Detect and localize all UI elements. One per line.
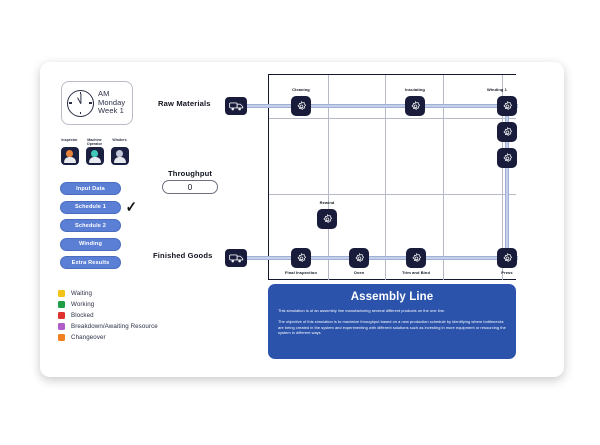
legend-label: Breakdown/Awaiting Resource: [71, 323, 158, 330]
control-button-stack: Input Data Schedule 1 ✓ Schedule 2 Windi…: [60, 182, 138, 269]
station-node-cleaning[interactable]: [291, 96, 311, 116]
station-node-press[interactable]: [497, 248, 517, 268]
station-node-rewind[interactable]: [317, 209, 337, 229]
simulation-clock: AM Monday Week 1: [61, 81, 133, 125]
clock-readout: AM Monday Week 1: [98, 90, 125, 116]
legend-item-waiting: Waiting: [58, 290, 158, 297]
finished-goods-label: Finished Goods: [153, 251, 212, 260]
conveyor-bottom: [246, 256, 518, 260]
worker-icon: [86, 147, 104, 165]
conveyor-top: [246, 104, 518, 108]
clock-week: Week 1: [98, 107, 125, 116]
grid-divider: [269, 118, 516, 119]
legend-item-breakdown: Breakdown/Awaiting Resource: [58, 323, 158, 330]
grid-divider: [269, 194, 516, 195]
legend-swatch: [58, 290, 65, 297]
station-node-oven[interactable]: [349, 248, 369, 268]
schedule-1-button[interactable]: Schedule 1: [60, 201, 121, 214]
legend-swatch: [58, 323, 65, 330]
worker-machine-operator: Machine Operator: [85, 138, 104, 165]
legend-swatch: [58, 312, 65, 319]
legend-label: Working: [71, 301, 94, 308]
worker-label: Machine Operator: [85, 138, 104, 147]
input-data-button[interactable]: Input Data: [60, 182, 121, 195]
info-panel-paragraph-2: The objective of this simulation is to m…: [278, 319, 506, 335]
worker-icon: [61, 147, 79, 165]
station-node-winding-1a[interactable]: [497, 96, 517, 116]
finished-goods-truck-icon: [225, 249, 247, 267]
throughput-value: 0: [162, 180, 218, 194]
legend-item-blocked: Blocked: [58, 312, 158, 319]
worker-label: Winders: [112, 138, 126, 147]
station-label-cleaning: Cleaning: [277, 87, 325, 92]
info-panel: Assembly Line This simulation is of an a…: [268, 284, 516, 359]
worker-icon: [111, 147, 129, 165]
station-node-trim-and-bind[interactable]: [406, 248, 426, 268]
schedule-1-check-icon: ✓: [126, 201, 137, 214]
winding-button[interactable]: Winding: [60, 238, 121, 251]
worker-winders: Winders: [110, 138, 129, 165]
info-panel-paragraph-1: This simulation is of an assembly line m…: [278, 308, 506, 313]
raw-materials-truck-icon: [225, 97, 247, 115]
station-node-final-inspection[interactable]: [291, 248, 311, 268]
schedule-2-button[interactable]: Schedule 2: [60, 219, 121, 232]
worker-inspector: Inspector: [60, 138, 79, 165]
legend-item-working: Working: [58, 301, 158, 308]
simulation-canvas: AM Monday Week 1 Inspector Machine Opera…: [40, 62, 564, 377]
legend-item-changeover: Changeover: [58, 334, 158, 341]
legend-label: Waiting: [71, 290, 92, 297]
station-node-winding-1c[interactable]: [497, 148, 517, 168]
station-label-trim-and-bind: Trim and Bind: [392, 270, 440, 275]
station-label-rewind: Rewind: [303, 200, 351, 205]
worker-resource-group: Inspector Machine Operator Winders: [60, 138, 129, 165]
station-label-oven: Oven: [335, 270, 383, 275]
station-node-insulating[interactable]: [405, 96, 425, 116]
extra-results-button[interactable]: Extra Results: [60, 256, 121, 269]
station-node-winding-1b[interactable]: [497, 122, 517, 142]
clock-icon: [67, 90, 94, 117]
throughput-label: Throughput: [168, 169, 212, 178]
station-label-final-inspection: Final Inspection: [277, 270, 325, 275]
legend-swatch: [58, 334, 65, 341]
legend-label: Changeover: [71, 334, 106, 341]
info-panel-title: Assembly Line: [278, 291, 506, 303]
station-label-insulating: Insulating: [391, 87, 439, 92]
status-legend: Waiting Working Blocked Breakdown/Awaiti…: [58, 290, 158, 341]
worker-label: Inspector: [61, 138, 77, 147]
raw-materials-label: Raw Materials: [158, 99, 211, 108]
legend-label: Blocked: [71, 312, 94, 319]
station-label-press: Press: [483, 270, 531, 275]
legend-swatch: [58, 301, 65, 308]
station-label-winding-1: Winding 1: [473, 87, 521, 92]
